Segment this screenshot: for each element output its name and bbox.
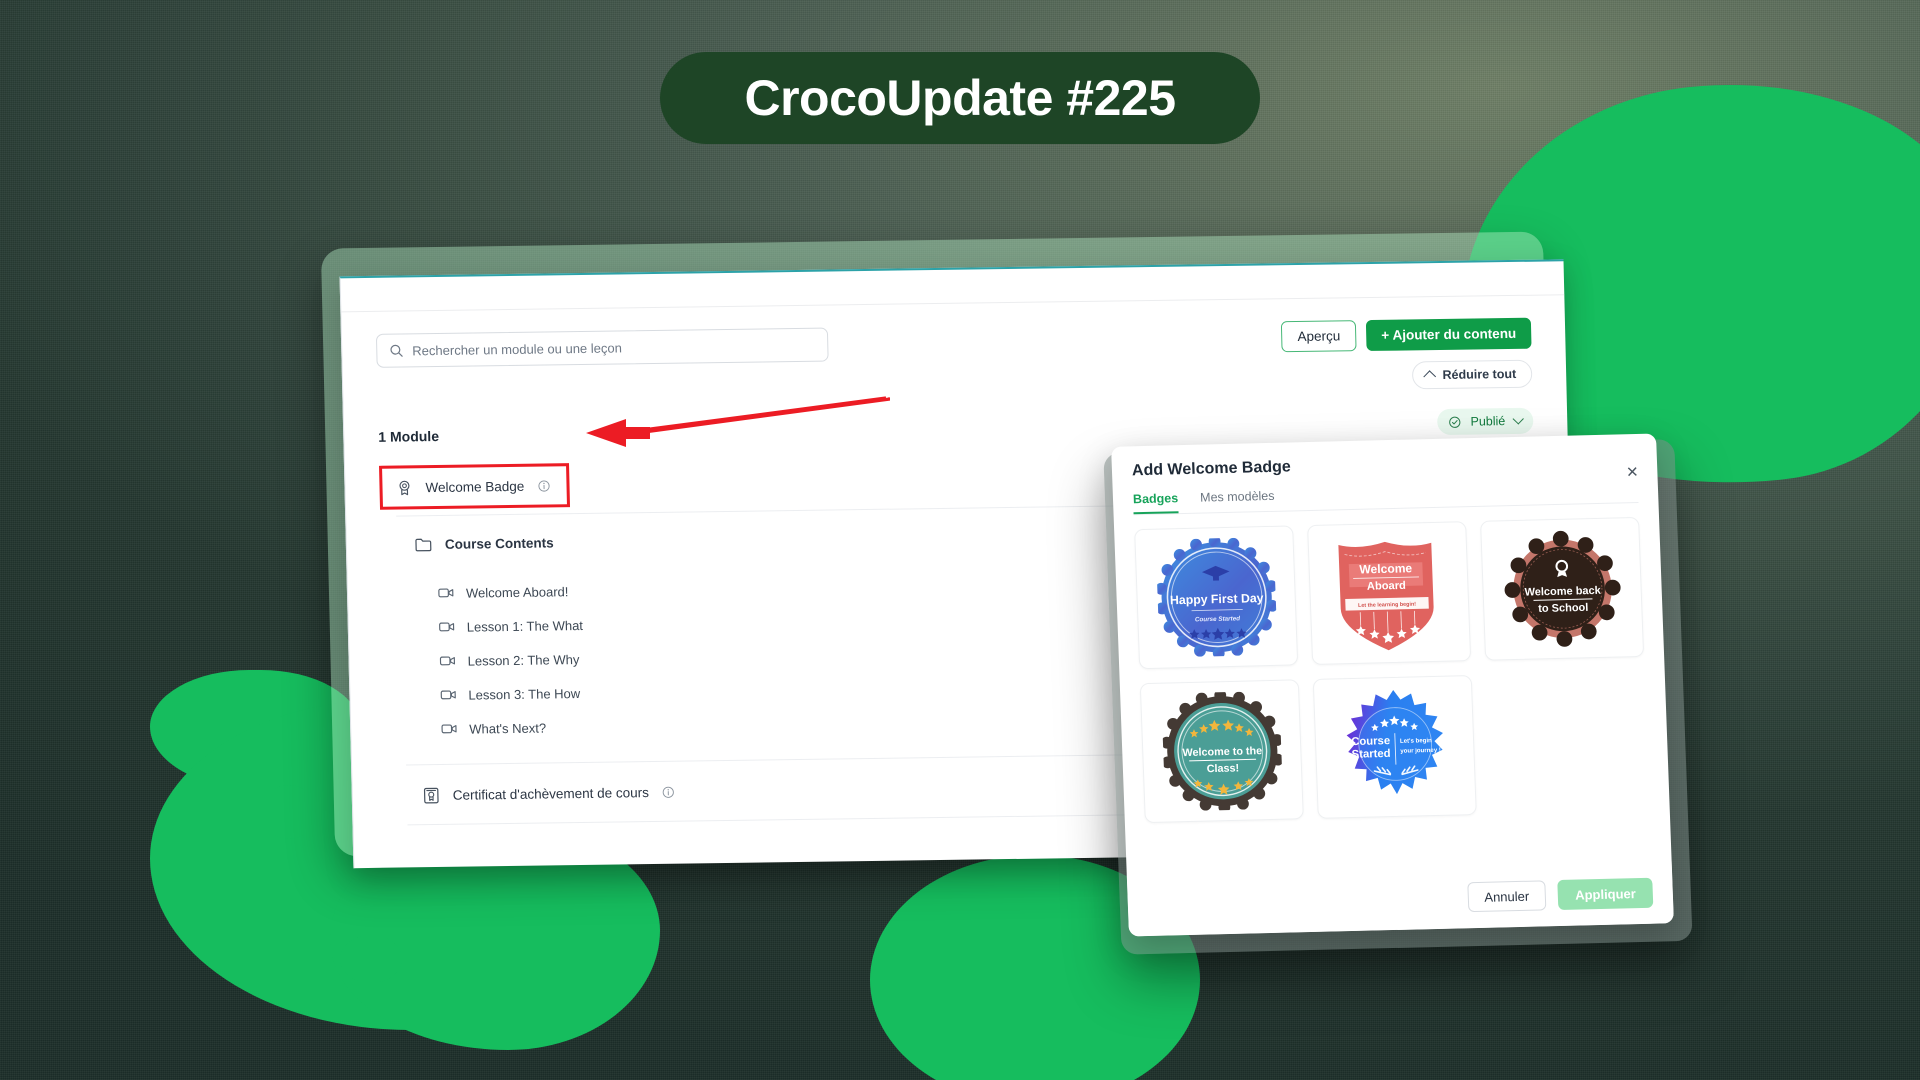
- svg-text:Started: Started: [1351, 748, 1390, 761]
- module-count-label: 1 Module: [378, 428, 439, 445]
- status-badge[interactable]: Publié: [1437, 408, 1533, 435]
- video-camera-icon: [439, 621, 455, 633]
- badge-art: Happy First Day Course Started: [1155, 537, 1277, 658]
- badge-card-welcome-to-the-class[interactable]: Welcome to the Class!: [1140, 679, 1304, 823]
- badge-art: Welcome back to School: [1501, 528, 1623, 649]
- check-circle-icon: [1448, 415, 1461, 428]
- svg-text:Welcome to the: Welcome to the: [1182, 745, 1262, 759]
- svg-text:Class!: Class!: [1206, 762, 1239, 775]
- svg-text:Aboard: Aboard: [1366, 580, 1406, 593]
- lesson-label: What's Next?: [469, 720, 546, 736]
- lesson-label: Lesson 2: The Why: [467, 652, 579, 669]
- video-camera-icon: [440, 689, 456, 701]
- award-badge-icon: [396, 479, 412, 496]
- screenshot-stage: CrocoUpdate #225 Rechercher un: [0, 0, 1920, 1080]
- decorative-dot: [340, 935, 402, 983]
- status-label: Publié: [1470, 414, 1505, 428]
- preview-button[interactable]: Aperçu: [1281, 320, 1357, 352]
- badge-art: Welcome Aboard Let the learning begin!: [1328, 533, 1450, 654]
- badge-card-happy-first-day[interactable]: Happy First Day Course Started: [1134, 525, 1298, 669]
- lesson-label: Lesson 3: The How: [468, 686, 580, 703]
- modal-title: Add Welcome Badge: [1132, 450, 1638, 480]
- lesson-label: Lesson 1: The What: [467, 617, 583, 634]
- svg-text:Happy First Day: Happy First Day: [1169, 591, 1263, 607]
- toolbar-buttons: Aperçu + Ajouter du contenu: [1281, 318, 1531, 352]
- video-camera-icon: [439, 655, 455, 667]
- decorative-dot: [262, 785, 316, 839]
- chevron-up-icon: [1424, 370, 1437, 383]
- badge-card-welcome-back-to-school[interactable]: Welcome back to School: [1480, 517, 1644, 661]
- badge-card-welcome-aboard[interactable]: Welcome Aboard Let the learning begin!: [1307, 521, 1471, 665]
- modal-panel: Add Welcome Badge ✕ Badges Mes modèles: [1111, 434, 1674, 937]
- svg-text:Welcome: Welcome: [1359, 561, 1413, 576]
- collapse-all-button[interactable]: Réduire tout: [1412, 360, 1532, 390]
- svg-text:Course: Course: [1351, 735, 1390, 748]
- folder-label: Course Contents: [445, 535, 554, 552]
- lesson-label: Welcome Aboard!: [466, 584, 569, 600]
- tab-mes-modeles[interactable]: Mes modèles: [1200, 489, 1275, 513]
- folder-icon: [415, 537, 432, 552]
- badge-art: Welcome to the Class!: [1161, 691, 1283, 812]
- welcome-badge-label: Welcome Badge: [425, 478, 524, 494]
- toolbar: Rechercher un module ou une leçon Aperçu…: [376, 318, 1533, 404]
- collapse-all-label: Réduire tout: [1442, 367, 1516, 382]
- annotation-arrow: [560, 395, 890, 455]
- info-circle-icon[interactable]: [662, 786, 675, 799]
- svg-text:your journey !: your journey !: [1400, 747, 1441, 755]
- svg-text:Welcome back: Welcome back: [1524, 585, 1602, 599]
- welcome-badge-row[interactable]: Welcome Badge: [379, 463, 570, 510]
- add-badge-modal: Add Welcome Badge ✕ Badges Mes modèles: [1111, 434, 1674, 937]
- video-camera-icon: [441, 723, 457, 735]
- certificate-icon: [423, 787, 440, 804]
- search-input[interactable]: Rechercher un module ou une leçon: [376, 328, 829, 368]
- search-icon: [389, 343, 403, 357]
- chevron-down-icon: [1513, 413, 1524, 424]
- badge-card-course-started[interactable]: Course Started Let's begin your journey …: [1313, 675, 1477, 819]
- apply-button[interactable]: Appliquer: [1558, 878, 1654, 910]
- page-title: CrocoUpdate #225: [744, 69, 1175, 127]
- video-camera-icon: [438, 587, 454, 599]
- svg-text:Course Started: Course Started: [1194, 615, 1239, 623]
- badge-grid: Happy First Day Course Started: [1114, 502, 1670, 823]
- title-banner: CrocoUpdate #225: [660, 52, 1260, 144]
- svg-text:Let's begin: Let's begin: [1399, 737, 1431, 745]
- info-circle-icon[interactable]: [537, 479, 550, 492]
- cancel-button[interactable]: Annuler: [1467, 880, 1547, 912]
- tab-badges[interactable]: Badges: [1133, 491, 1179, 514]
- certificate-label: Certificat d'achèvement de cours: [453, 785, 650, 803]
- close-icon[interactable]: ✕: [1623, 464, 1642, 482]
- svg-text:to School: to School: [1538, 602, 1589, 615]
- search-placeholder-text: Rechercher un module ou une leçon: [412, 340, 622, 358]
- badge-art: Course Started Let's begin your journey …: [1334, 687, 1456, 808]
- add-content-button[interactable]: + Ajouter du contenu: [1366, 318, 1532, 351]
